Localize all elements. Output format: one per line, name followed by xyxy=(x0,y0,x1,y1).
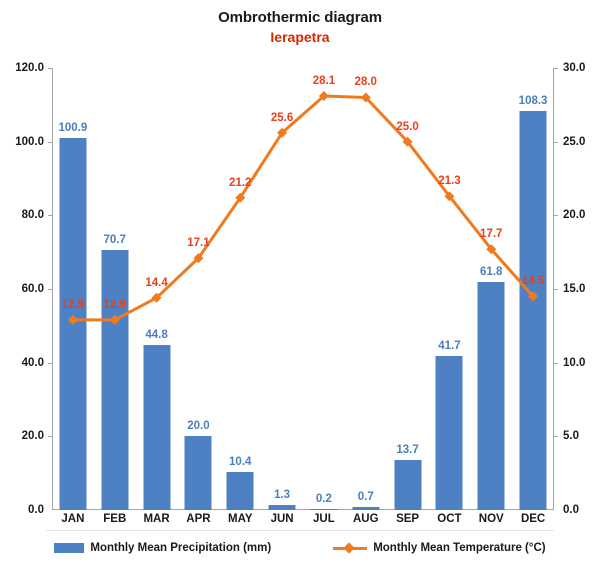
temperature-data-label: 25.0 xyxy=(396,121,418,134)
temperature-data-label: 25.6 xyxy=(271,112,293,125)
precipitation-bar[interactable] xyxy=(227,472,254,510)
precipitation-data-label: 0.7 xyxy=(358,491,374,504)
precipitation-data-label: 0.2 xyxy=(316,493,332,506)
plot-area: 0.020.040.060.080.0100.0120.0 0.05.010.0… xyxy=(52,68,554,510)
x-axis-tick-label: MAR xyxy=(143,512,169,526)
x-axis-tick-label: SEP xyxy=(396,512,419,526)
y-axis-left-tick-label: 20.0 xyxy=(22,430,44,442)
y-axis-left-tick-label: 120.0 xyxy=(15,62,44,74)
x-axis-tick-label: OCT xyxy=(437,512,461,526)
x-axis-tick-label: AUG xyxy=(353,512,379,526)
precipitation-bar[interactable] xyxy=(143,345,170,510)
y-axis-left-tick-label: 100.0 xyxy=(15,136,44,148)
temperature-data-label: 28.0 xyxy=(355,76,377,89)
x-axis-tick-label: DEC xyxy=(521,512,545,526)
bar-slot: 108.3 xyxy=(512,68,554,510)
x-axis-tick-label: APR xyxy=(186,512,210,526)
temperature-data-label: 14.4 xyxy=(145,277,167,290)
chart-subtitle: Ierapetra xyxy=(0,28,600,47)
bar-slot: 0.2 xyxy=(303,68,345,510)
y-axis-right-tick-label: 5.0 xyxy=(563,430,579,442)
bar-slot: 13.7 xyxy=(387,68,429,510)
chart-legend: Monthly Mean Precipitation (mm)Monthly M… xyxy=(46,530,554,565)
precipitation-data-label: 61.8 xyxy=(480,266,502,279)
y-axis-right-tick-label: 30.0 xyxy=(563,62,585,74)
y-axis-left-tick-label: 60.0 xyxy=(22,283,44,295)
legend-line-marker-icon xyxy=(333,543,367,554)
bar-slot: 20.0 xyxy=(178,68,220,510)
precipitation-data-label: 13.7 xyxy=(396,444,418,457)
temperature-data-label: 17.1 xyxy=(187,237,209,250)
y-axis-right-tick-label: 0.0 xyxy=(563,504,579,516)
precipitation-data-label: 1.3 xyxy=(274,489,290,502)
y-axis-right-tick-label: 15.0 xyxy=(563,283,585,295)
y-axis-right-tick xyxy=(554,436,558,437)
precipitation-bar[interactable] xyxy=(436,356,463,510)
precipitation-bar[interactable] xyxy=(59,138,86,510)
y-axis-right-tick xyxy=(554,289,558,290)
precipitation-bar[interactable] xyxy=(310,509,337,510)
legend-item[interactable]: Monthly Mean Temperature (°C) xyxy=(333,542,545,554)
precipitation-data-label: 20.0 xyxy=(187,420,209,433)
bar-slot: 0.7 xyxy=(345,68,387,510)
bar-slot: 70.7 xyxy=(94,68,136,510)
x-axis-tick-label: NOV xyxy=(479,512,504,526)
temperature-data-label: 21.3 xyxy=(438,175,460,188)
bar-slot: 41.7 xyxy=(429,68,471,510)
y-axis-left-tick-label: 0.0 xyxy=(28,504,44,516)
precipitation-data-label: 44.8 xyxy=(145,329,167,342)
bar-slot: 10.4 xyxy=(219,68,261,510)
y-axis-right-tick xyxy=(554,215,558,216)
ombrothermic-chart: Ombrothermic diagram Ierapetra 0.020.040… xyxy=(0,0,600,572)
x-axis-tick-label: JUL xyxy=(313,512,335,526)
precipitation-data-label: 108.3 xyxy=(519,95,548,108)
precipitation-data-label: 100.9 xyxy=(59,122,88,135)
page-title: Ombrothermic diagram xyxy=(0,8,600,28)
y-axis-right-tick xyxy=(554,68,558,69)
y-axis-right-tick-label: 25.0 xyxy=(563,136,585,148)
legend-item-label: Monthly Mean Temperature (°C) xyxy=(373,542,545,554)
x-axis-tick-label: JAN xyxy=(61,512,84,526)
temperature-data-label: 28.1 xyxy=(313,75,335,88)
bar-slot: 100.9 xyxy=(52,68,94,510)
y-axis-left-tick-label: 80.0 xyxy=(22,209,44,221)
temperature-data-label: 12.9 xyxy=(62,299,84,312)
x-axis-tick-label: JUN xyxy=(271,512,294,526)
bar-slot: 1.3 xyxy=(261,68,303,510)
precipitation-bar[interactable] xyxy=(352,507,379,510)
chart-title-block: Ombrothermic diagram Ierapetra xyxy=(0,8,600,47)
temperature-data-label: 12.9 xyxy=(104,299,126,312)
legend-bar-swatch-icon xyxy=(54,543,84,553)
precipitation-bar[interactable] xyxy=(478,282,505,510)
x-axis-tick-label: FEB xyxy=(103,512,126,526)
y-axis-right-tick-label: 20.0 xyxy=(563,209,585,221)
precipitation-bar[interactable] xyxy=(520,111,547,510)
precipitation-data-label: 41.7 xyxy=(438,340,460,353)
precipitation-data-label: 70.7 xyxy=(104,234,126,247)
precipitation-bar[interactable] xyxy=(101,250,128,510)
y-axis-right-tick xyxy=(554,142,558,143)
plot-inner: 0.020.040.060.080.0100.0120.0 0.05.010.0… xyxy=(52,68,554,510)
x-axis-tick-label: MAY xyxy=(228,512,253,526)
precipitation-bar[interactable] xyxy=(185,436,212,510)
legend-item[interactable]: Monthly Mean Precipitation (mm) xyxy=(54,542,271,554)
legend-item-label: Monthly Mean Precipitation (mm) xyxy=(90,542,271,554)
y-axis-right-tick xyxy=(554,363,558,364)
y-axis-left-tick-label: 40.0 xyxy=(22,357,44,369)
precipitation-data-label: 10.4 xyxy=(229,456,251,469)
precipitation-bar[interactable] xyxy=(269,505,296,510)
temperature-data-label: 21.2 xyxy=(229,177,251,190)
temperature-data-label: 14.5 xyxy=(522,275,544,288)
temperature-data-label: 17.7 xyxy=(480,228,502,241)
precipitation-bar[interactable] xyxy=(394,460,421,510)
bar-slot: 61.8 xyxy=(470,68,512,510)
y-axis-right-tick-label: 10.0 xyxy=(563,357,585,369)
